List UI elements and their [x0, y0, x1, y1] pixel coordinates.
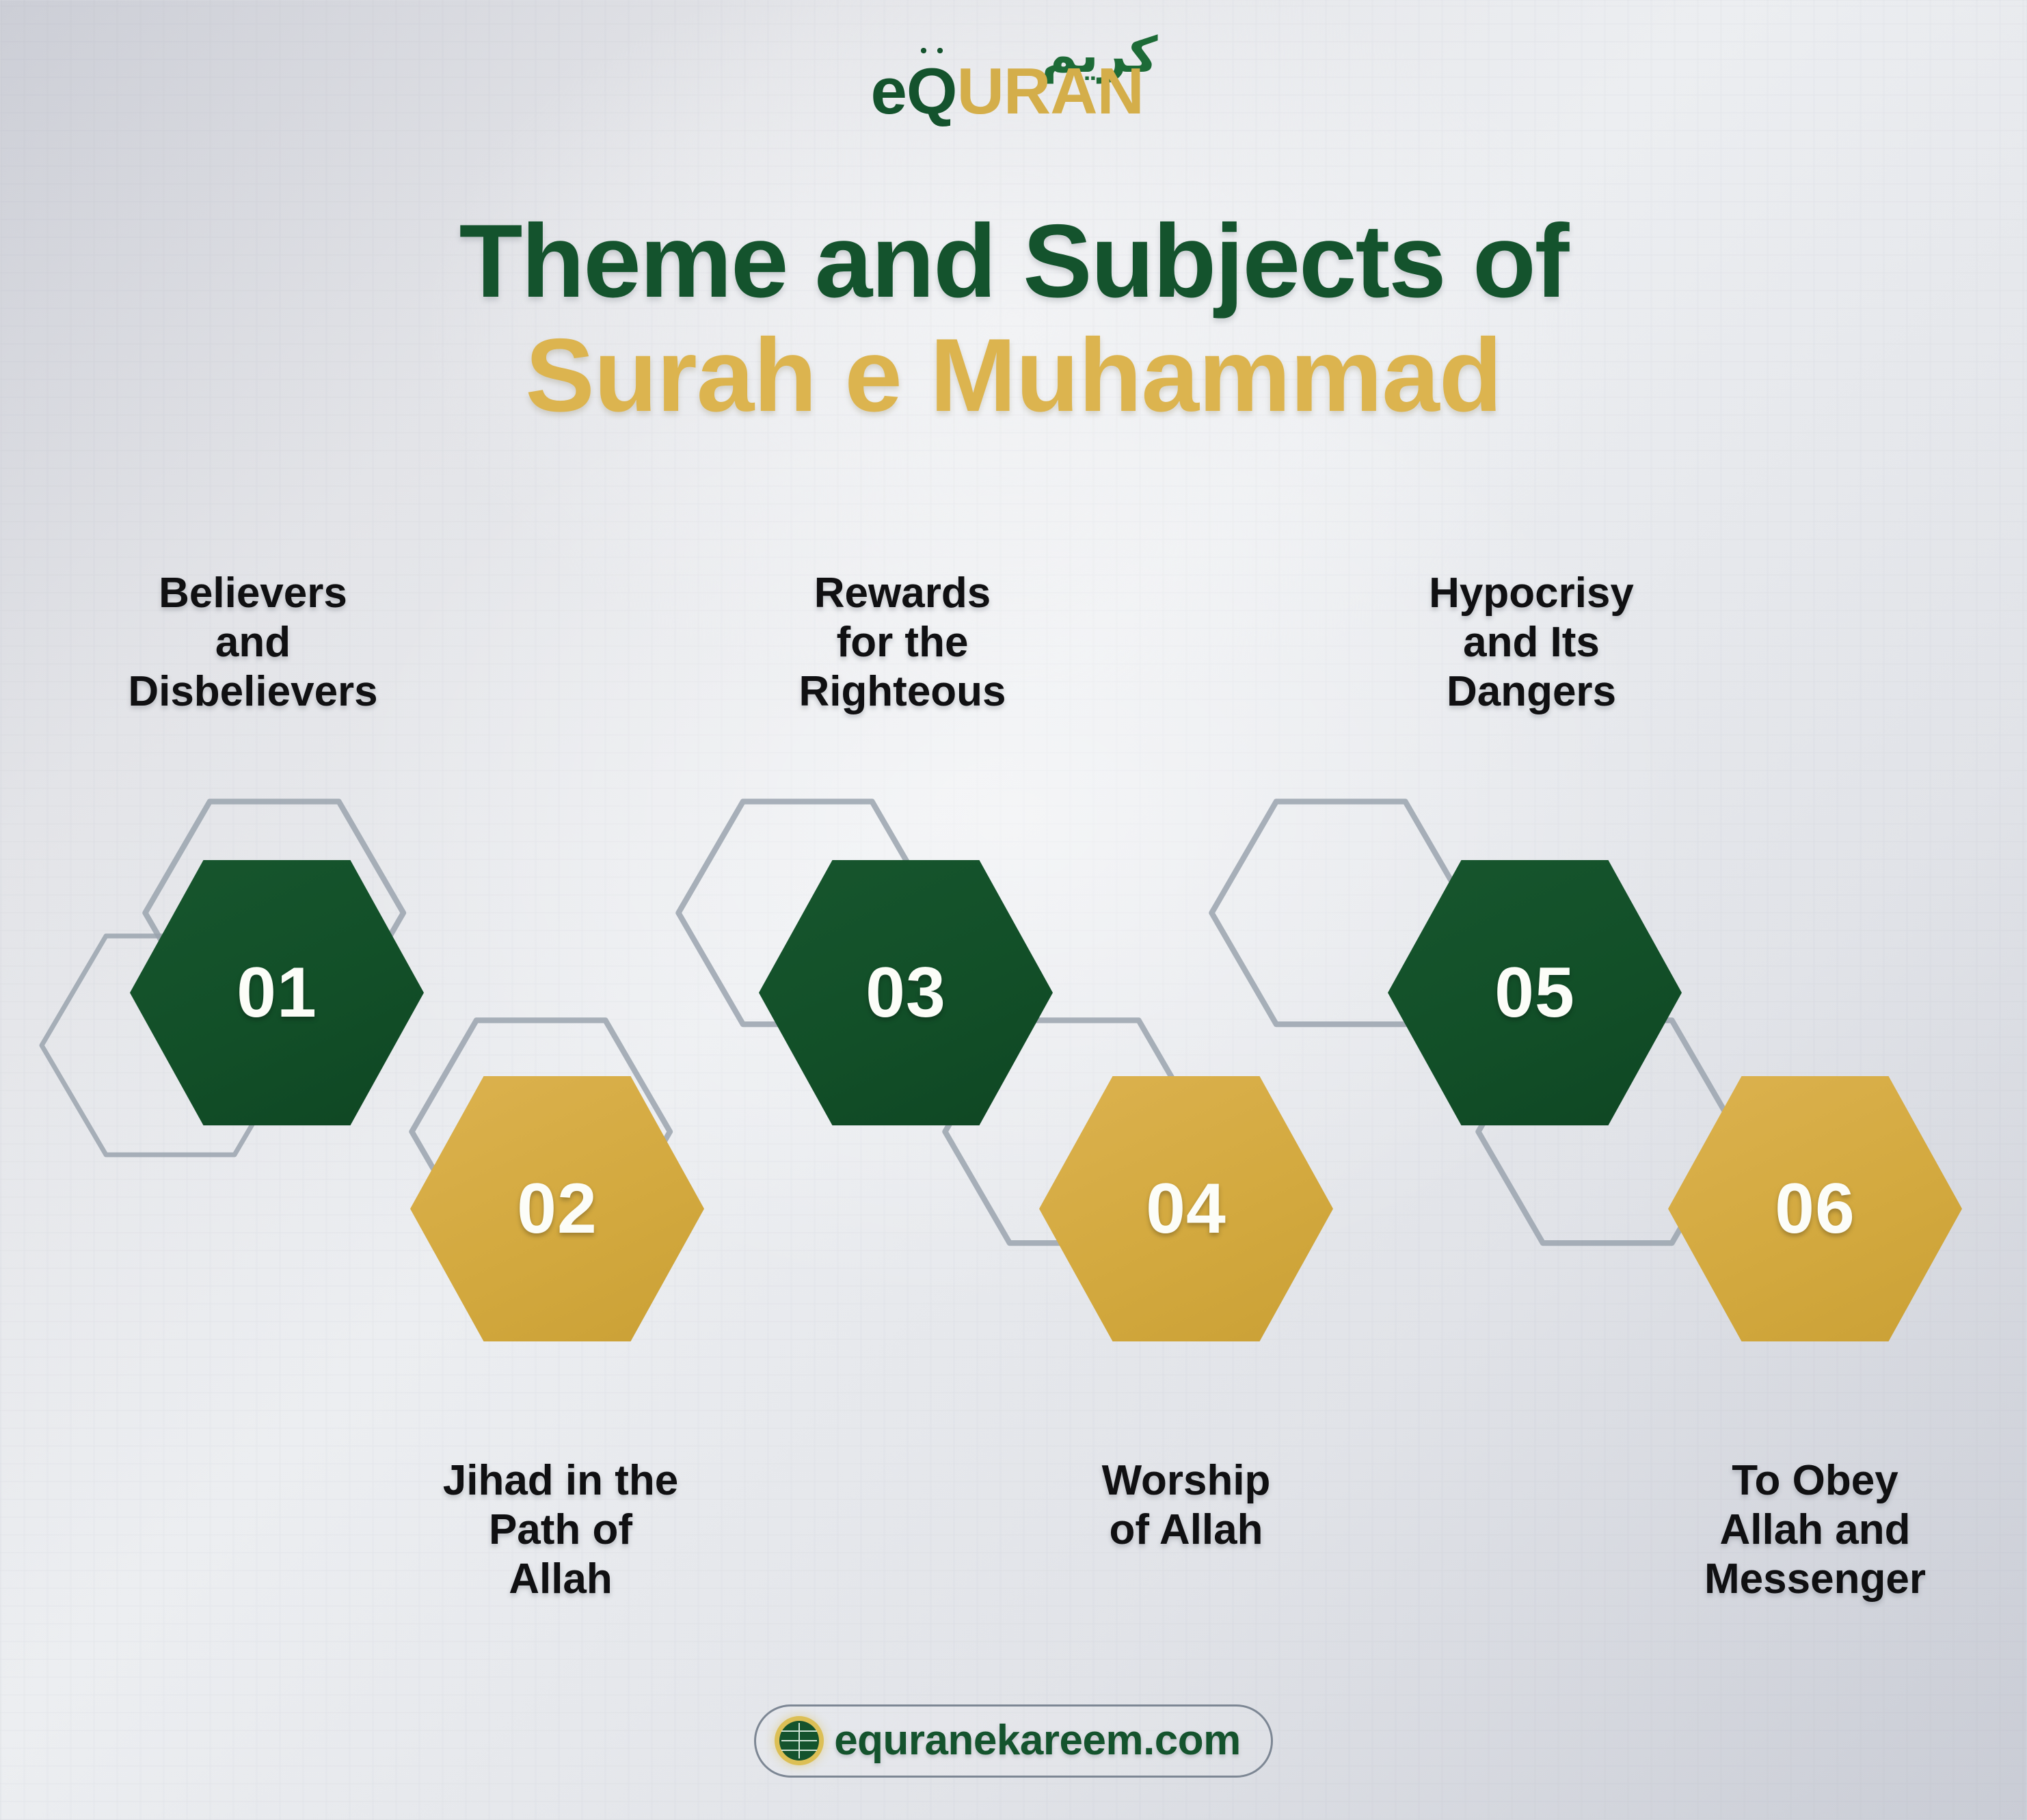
website-pill[interactable]: equranekareem.com	[754, 1704, 1273, 1778]
step-label-05: Hypocrisy and Its Dangers	[1319, 569, 1743, 717]
step-label-02-line-1: Jihad in the	[342, 1456, 779, 1505]
hexagon-step-04[interactable]: 04	[1039, 1072, 1333, 1346]
step-label-03-line-3: Righteous	[690, 667, 1114, 717]
step-label-01: Believers and Disbelievers	[41, 569, 465, 717]
step-label-06-line-1: To Obey	[1600, 1456, 2027, 1505]
page-title: Theme and Subjects of Surah e Muhammad	[0, 205, 2027, 433]
hexagon-number-04: 04	[1039, 1072, 1333, 1346]
step-label-05-line-1: Hypocrisy	[1319, 569, 1743, 618]
step-label-06-line-2: Allah and	[1600, 1505, 2027, 1555]
step-label-01-line-3: Disbelievers	[41, 667, 465, 717]
hexagon-nodes-layer: Believers and Disbelievers 01 02 Jihad i…	[0, 581, 2027, 1689]
hexagon-number-06: 06	[1668, 1072, 1962, 1346]
step-label-04-line-1: Worship	[967, 1456, 1405, 1505]
step-label-04-line-2: of Allah	[967, 1505, 1405, 1555]
hexagon-number-01: 01	[130, 856, 424, 1129]
website-url: equranekareem.com	[834, 1716, 1241, 1765]
step-label-03-line-1: Rewards	[690, 569, 1114, 618]
hexagon-step-03[interactable]: 03	[759, 856, 1053, 1129]
hexagon-chain-diagram: .ol{fill:none;stroke:#9aa3ae;stroke-widt…	[0, 581, 2027, 1689]
step-label-02-line-2: Path of	[342, 1505, 779, 1555]
step-label-05-line-3: Dangers	[1319, 667, 1743, 717]
hexagon-step-05[interactable]: 05	[1388, 856, 1682, 1129]
title-line-1: Theme and Subjects of	[0, 205, 2027, 317]
logo-letter-q: Q	[907, 55, 957, 128]
logo-wordmark: eQURAN	[871, 59, 1144, 124]
title-line-2: Surah e Muhammad	[0, 319, 2027, 433]
brand-logo: كريم eQURAN	[0, 29, 2027, 131]
step-label-01-line-1: Believers	[41, 569, 465, 618]
step-label-03: Rewards for the Righteous	[690, 569, 1114, 717]
hexagon-number-05: 05	[1388, 856, 1682, 1129]
footer: equranekareem.com	[0, 1704, 2027, 1778]
step-label-01-line-2: and	[41, 618, 465, 667]
hexagon-number-02: 02	[410, 1072, 704, 1346]
globe-icon	[779, 1721, 819, 1761]
logo-letters-uran: URAN	[957, 55, 1144, 128]
step-label-02-line-3: Allah	[342, 1555, 779, 1604]
hexagon-step-01[interactable]: 01	[130, 856, 424, 1129]
step-label-03-line-2: for the	[690, 618, 1114, 667]
step-label-04: Worship of Allah	[967, 1456, 1405, 1555]
hexagon-step-02[interactable]: 02	[410, 1072, 704, 1346]
step-label-06-line-3: Messenger	[1600, 1555, 2027, 1604]
hexagon-step-06[interactable]: 06	[1668, 1072, 1962, 1346]
step-label-05-line-2: and Its	[1319, 618, 1743, 667]
hexagon-number-03: 03	[759, 856, 1053, 1129]
step-label-02: Jihad in the Path of Allah	[342, 1456, 779, 1604]
step-label-06: To Obey Allah and Messenger	[1600, 1456, 2027, 1604]
logo-letter-e: e	[871, 55, 907, 128]
